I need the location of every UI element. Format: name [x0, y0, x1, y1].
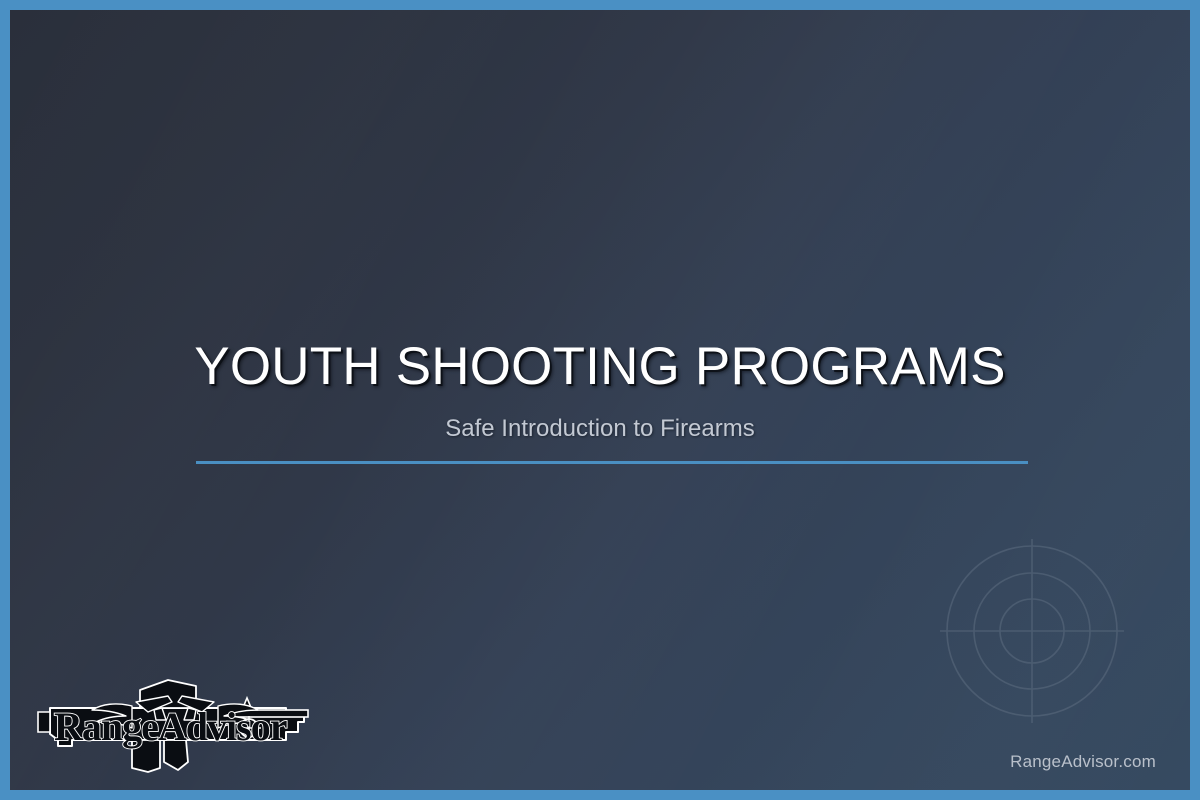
- page-subtitle: Safe Introduction to Firearms: [10, 393, 1190, 443]
- crosshair-target-icon: [922, 521, 1142, 741]
- footer-url: RangeAdvisor.com: [1010, 752, 1156, 772]
- page-title: YOUTH SHOOTING PROGRAMS: [10, 340, 1190, 393]
- presentation-slide: YOUTH SHOOTING PROGRAMS Safe Introductio…: [0, 0, 1200, 800]
- brand-logo: RangeAdvisor rifle silhouette logo: [36, 672, 316, 777]
- title-divider: [196, 461, 1028, 464]
- logo-wordmark: RangeAdvisor: [54, 704, 287, 749]
- title-block: YOUTH SHOOTING PROGRAMS Safe Introductio…: [10, 340, 1190, 443]
- slide-canvas: YOUTH SHOOTING PROGRAMS Safe Introductio…: [10, 10, 1190, 790]
